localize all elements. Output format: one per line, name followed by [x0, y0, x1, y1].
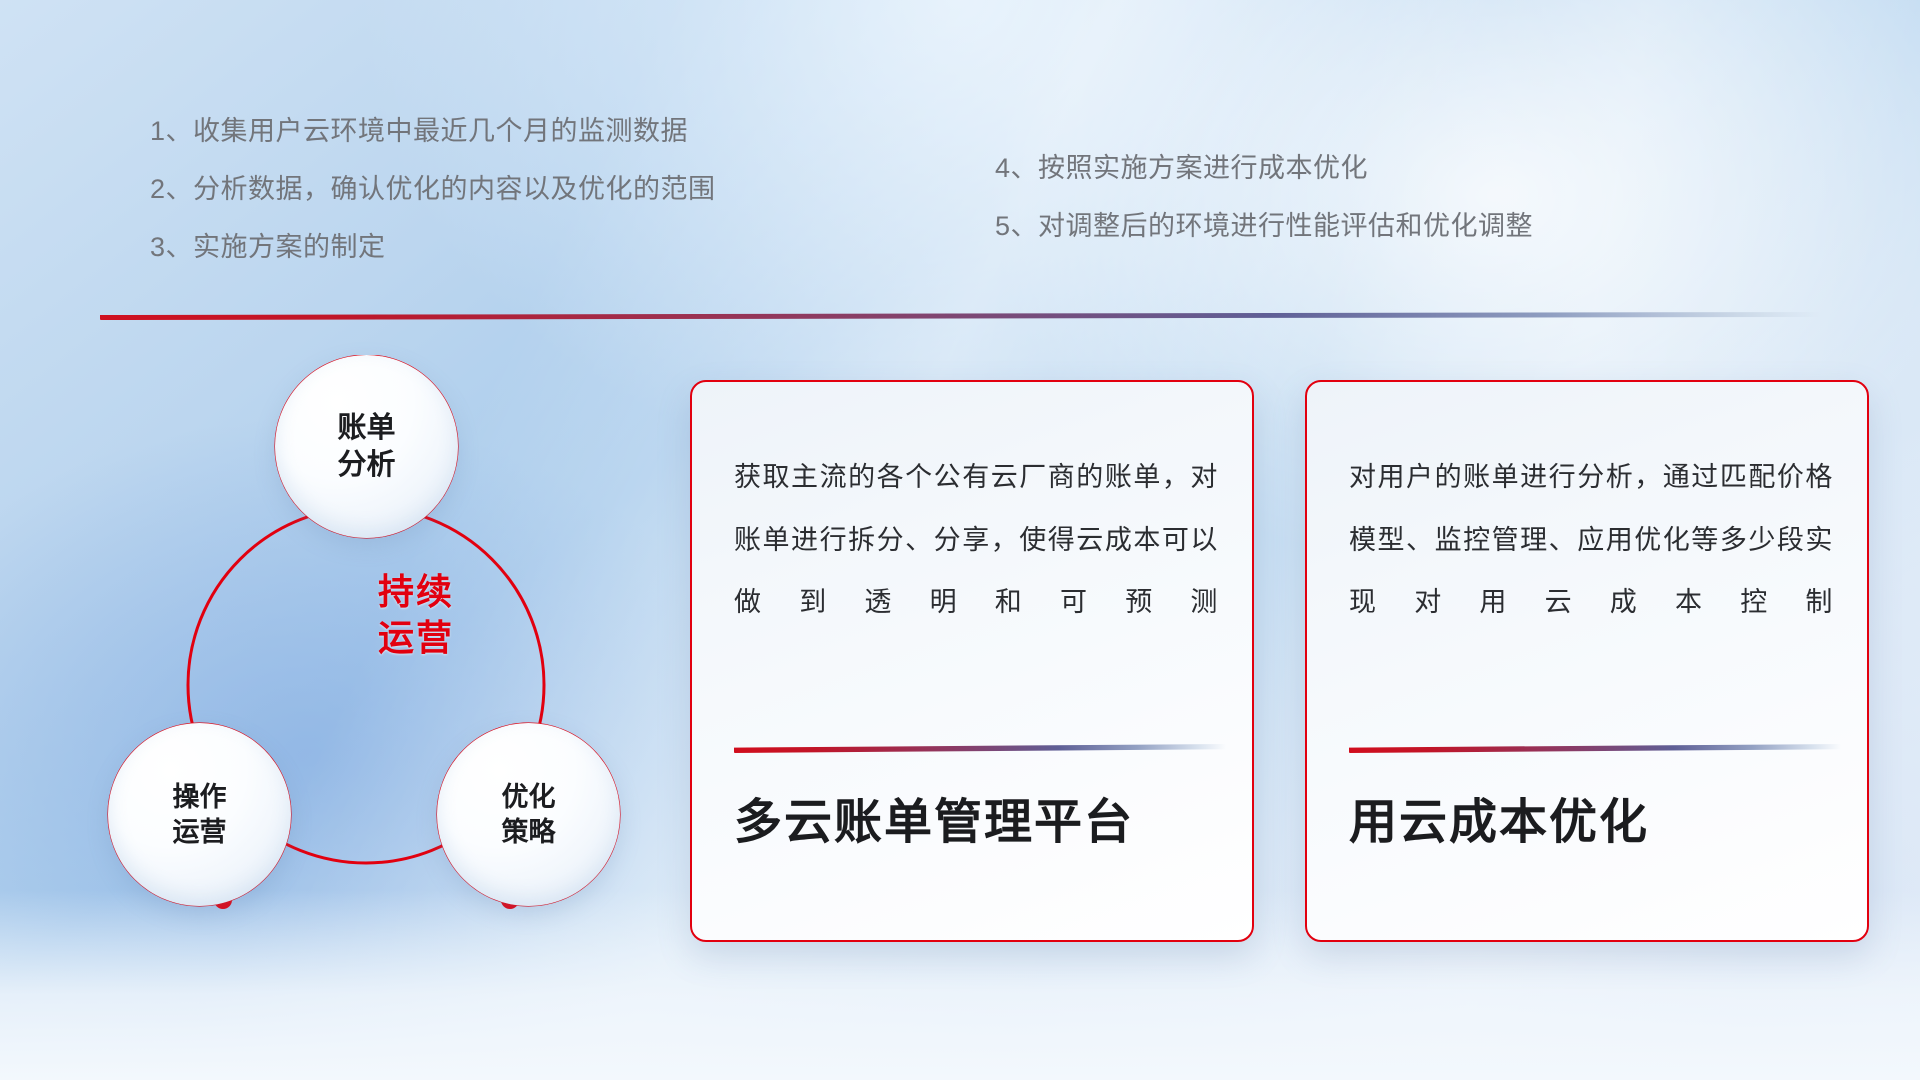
- card-divider: [1349, 744, 1841, 753]
- venn-bubble-label-line2: 分析: [337, 447, 395, 484]
- venn-center-label: 持续 运营: [336, 569, 496, 661]
- card-body-text: 对用户的账单进行分析，通过匹配价格模型、监控管理、应用优化等多少段实现对用云成本…: [1349, 446, 1833, 634]
- card-body-text: 获取主流的各个公有云厂商的账单，对账单进行拆分、分享，使得云成本可以做到透明和可…: [734, 446, 1218, 634]
- feature-card-multicloud-billing[interactable]: 获取主流的各个公有云厂商的账单，对账单进行拆分、分享，使得云成本可以做到透明和可…: [690, 380, 1254, 942]
- step-item: 4、按照实施方案进行成本优化: [995, 155, 1533, 182]
- step-item: 1、收集用户云环境中最近几个月的监测数据: [150, 118, 716, 145]
- venn-center-label-line2: 运营: [336, 615, 496, 661]
- venn-center-label-line1: 持续: [336, 569, 496, 615]
- venn-bubble-optimization-strategy[interactable]: 优化 策略: [437, 723, 620, 906]
- venn-bubble-label-line1: 账单: [337, 410, 395, 447]
- venn-bubble-billing-analysis[interactable]: 账单 分析: [275, 355, 458, 538]
- venn-bubble-label-line1: 优化: [502, 780, 556, 814]
- step-item: 5、对调整后的环境进行性能评估和优化调整: [995, 213, 1533, 240]
- venn-bubble-operation[interactable]: 操作 运营: [108, 723, 291, 906]
- feature-card-cloud-cost-optimization[interactable]: 对用户的账单进行分析，通过匹配价格模型、监控管理、应用优化等多少段实现对用云成本…: [1305, 380, 1869, 942]
- slide-canvas: 1、收集用户云环境中最近几个月的监测数据 2、分析数据，确认优化的内容以及优化的…: [0, 0, 1920, 1080]
- steps-right-column: 4、按照实施方案进行成本优化 5、对调整后的环境进行性能评估和优化调整: [995, 155, 1533, 240]
- card-divider: [734, 744, 1226, 753]
- card-title: 多云账单管理平台: [734, 794, 1222, 852]
- venn-diagram: 账单 分析 操作 运营 优化 策略 持续 运营: [100, 355, 670, 955]
- card-title: 用云成本优化: [1349, 794, 1837, 852]
- step-item: 3、实施方案的制定: [150, 234, 716, 261]
- venn-bubble-label-line2: 运营: [173, 815, 227, 849]
- section-divider: [100, 312, 1820, 320]
- steps-left-column: 1、收集用户云环境中最近几个月的监测数据 2、分析数据，确认优化的内容以及优化的…: [150, 118, 716, 261]
- step-item: 2、分析数据，确认优化的内容以及优化的范围: [150, 176, 716, 203]
- venn-bubble-label-line1: 操作: [173, 780, 227, 814]
- venn-bubble-label-line2: 策略: [502, 815, 556, 849]
